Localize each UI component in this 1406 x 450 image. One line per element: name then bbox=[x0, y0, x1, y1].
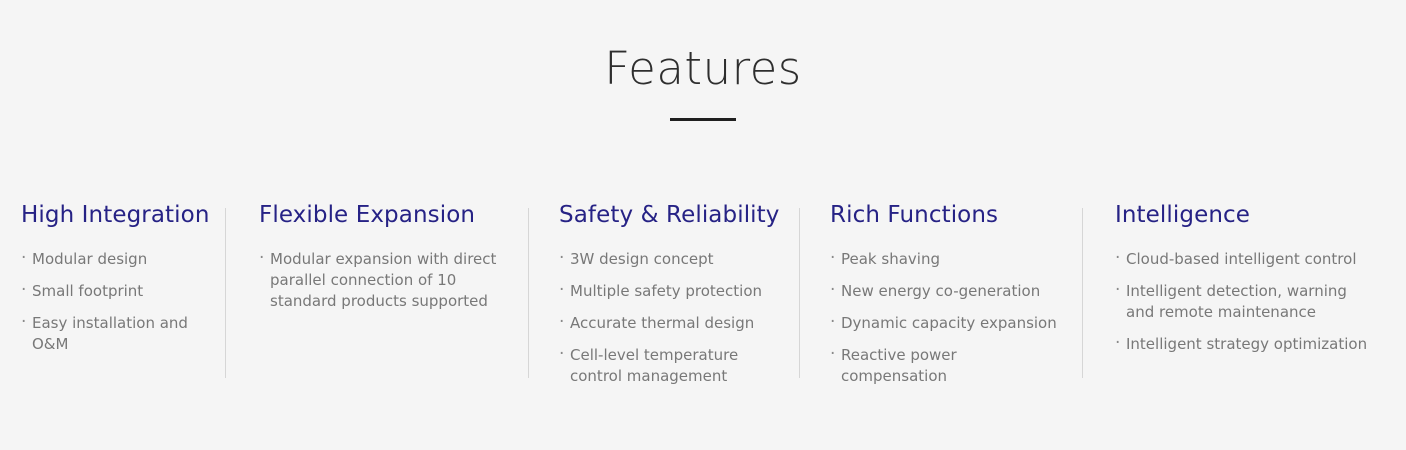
list-item: 3W design concept bbox=[559, 249, 782, 270]
list-item: Small footprint bbox=[21, 281, 208, 302]
feature-list: 3W design concept Multiple safety protec… bbox=[559, 249, 782, 387]
feature-list: Peak shaving New energy co-generation Dy… bbox=[830, 249, 1065, 387]
list-item: Cloud-based intelligent control bbox=[1115, 249, 1371, 270]
section-title-block: Features bbox=[0, 46, 1406, 121]
column-heading: Intelligence bbox=[1115, 203, 1371, 228]
title-underline-rule bbox=[670, 118, 736, 121]
feature-column-high-integration: High Integration Modular design Small fo… bbox=[0, 203, 226, 366]
page-title: Features bbox=[0, 46, 1406, 91]
list-item: Accurate thermal design bbox=[559, 313, 782, 334]
list-item: Dynamic capacity expansion bbox=[830, 313, 1065, 334]
features-section: Features High Integration Modular design… bbox=[0, 0, 1406, 450]
list-item: Modular design bbox=[21, 249, 208, 270]
feature-column-rich-functions: Rich Functions Peak shaving New energy c… bbox=[800, 203, 1083, 398]
list-item: Reactive power compensation bbox=[830, 345, 1065, 387]
column-heading: Rich Functions bbox=[830, 203, 1065, 228]
feature-column-flexible-expansion: Flexible Expansion Modular expansion wit… bbox=[226, 203, 529, 323]
feature-list: Cloud-based intelligent control Intellig… bbox=[1115, 249, 1371, 355]
feature-columns: High Integration Modular design Small fo… bbox=[0, 203, 1406, 398]
feature-column-safety-reliability: Safety & Reliability 3W design concept M… bbox=[529, 203, 800, 398]
feature-list: Modular design Small footprint Easy inst… bbox=[21, 249, 208, 355]
list-item: Cell-level temperature control managemen… bbox=[559, 345, 782, 387]
list-item: Intelligent strategy optimization bbox=[1115, 334, 1371, 355]
column-heading: Flexible Expansion bbox=[259, 203, 511, 228]
list-item: Peak shaving bbox=[830, 249, 1065, 270]
feature-list: Modular expansion with direct parallel c… bbox=[259, 249, 511, 312]
list-item: New energy co-generation bbox=[830, 281, 1065, 302]
feature-column-intelligence: Intelligence Cloud-based intelligent con… bbox=[1083, 203, 1389, 366]
column-heading: Safety & Reliability bbox=[559, 203, 782, 228]
list-item: Modular expansion with direct parallel c… bbox=[259, 249, 511, 312]
list-item: Intelligent detection, warning and remot… bbox=[1115, 281, 1371, 323]
list-item: Multiple safety protection bbox=[559, 281, 782, 302]
column-heading: High Integration bbox=[21, 203, 208, 228]
list-item: Easy installation and O&M bbox=[21, 313, 208, 355]
